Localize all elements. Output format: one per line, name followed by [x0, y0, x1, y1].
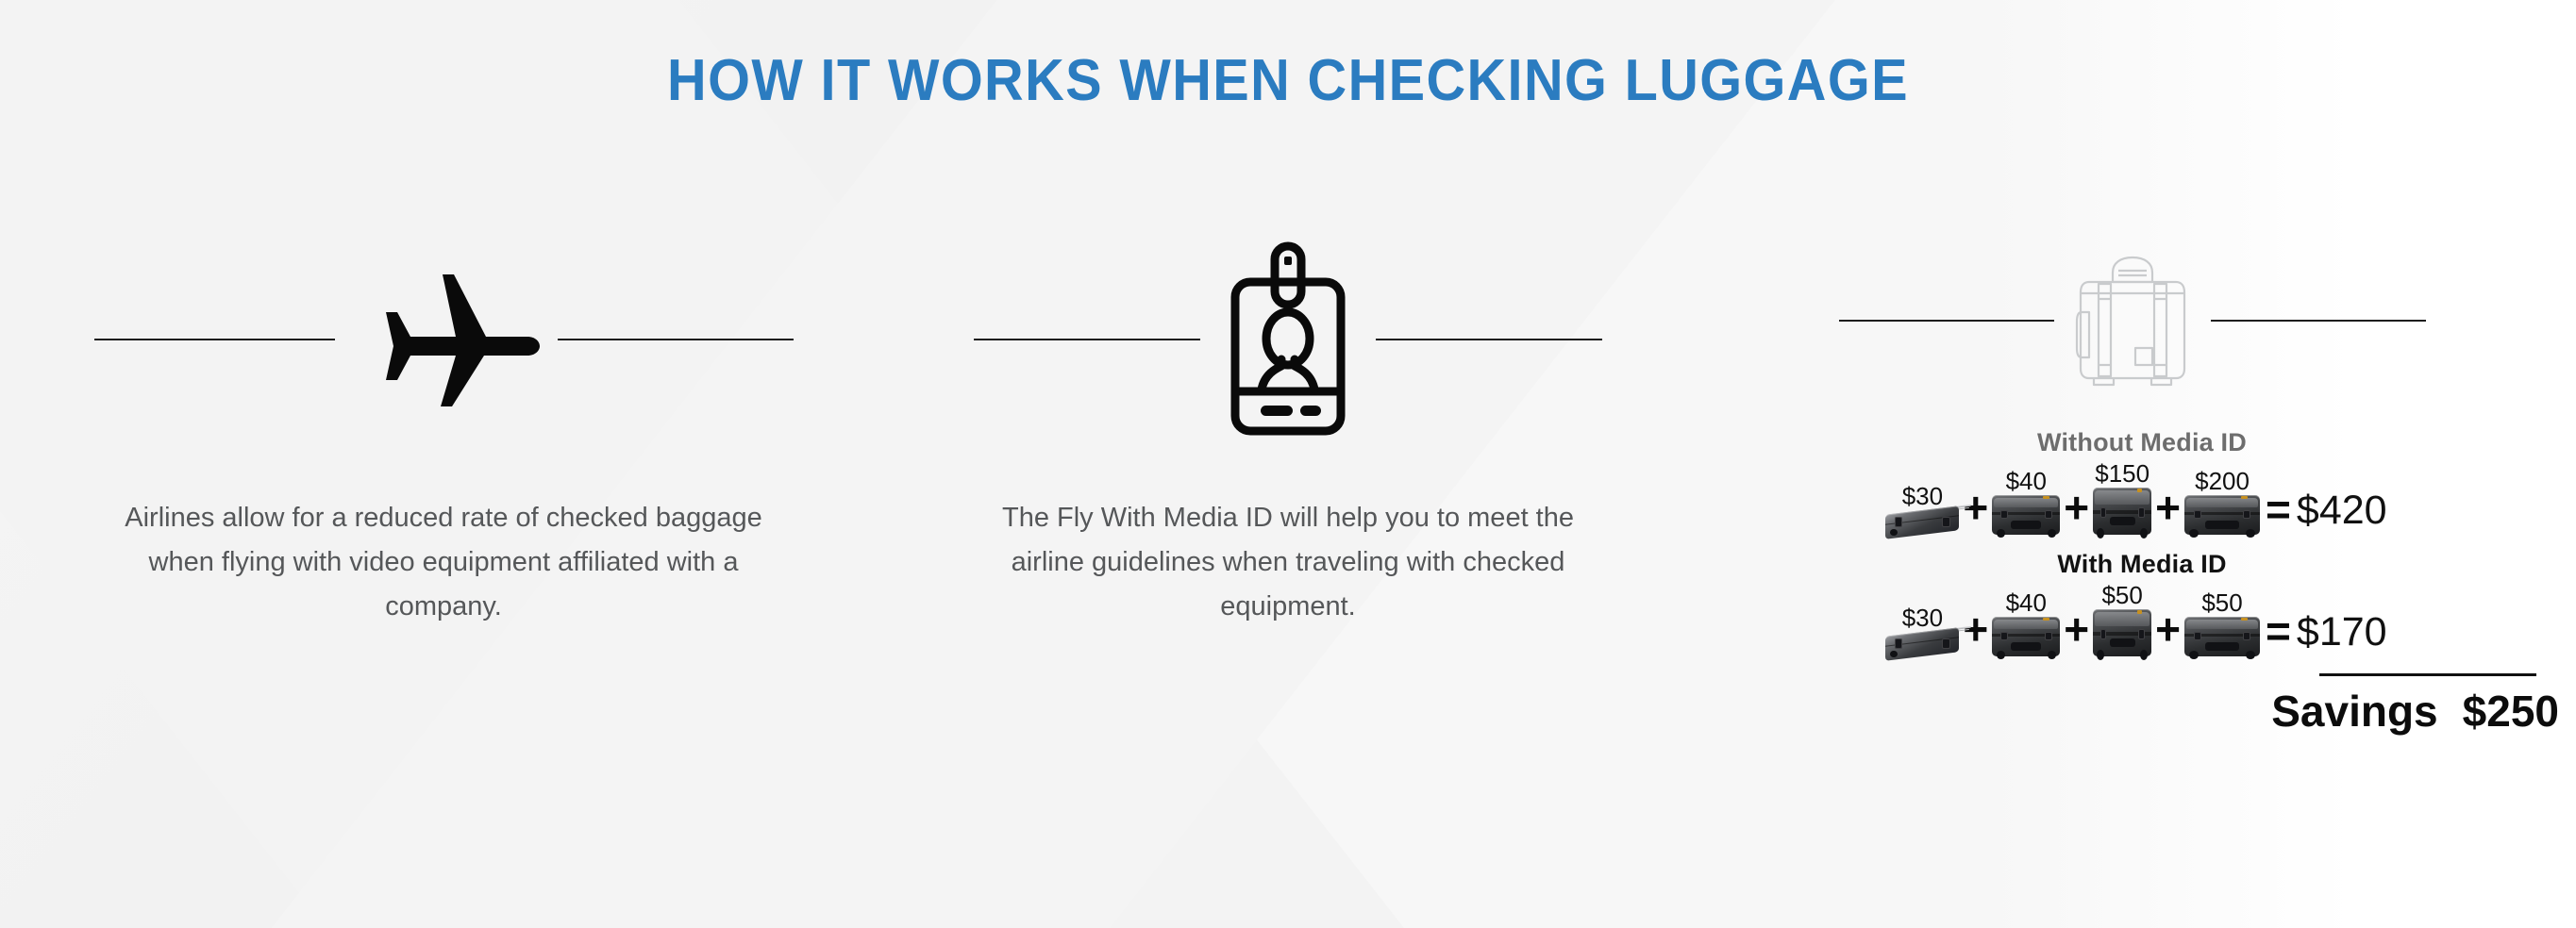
large-wheeled-case-icon	[2184, 495, 2260, 535]
luggage-amount: $200	[2195, 469, 2250, 493]
price-comparison: Without Media ID $30 +	[1689, 428, 2576, 737]
divider-line-right	[1376, 339, 1602, 340]
plus-symbol: +	[2064, 486, 2089, 529]
hard-case-icon	[2071, 250, 2194, 391]
luggage-item: $40	[1992, 590, 2060, 656]
column-airlines: Airlines allow for a reduced rate of che…	[0, 226, 887, 629]
total-amount: $420	[2297, 490, 2387, 531]
luggage-item: $150	[2093, 461, 2151, 535]
tall-wheeled-case-icon	[2093, 609, 2151, 656]
plus-symbol: +	[2155, 607, 2181, 651]
savings-row: Savings $250	[1689, 686, 2576, 737]
tall-wheeled-case-icon	[2093, 488, 2151, 535]
savings-label: Savings	[2271, 686, 2437, 737]
savings-divider-line	[2319, 673, 2536, 676]
savings-value: $250	[2463, 686, 2559, 737]
price-row-with-media-id: $30 + $40	[1689, 583, 2576, 656]
medium-wheeled-case-icon	[1992, 495, 2060, 535]
column-media-id: The Fly With Media ID will help you to m…	[887, 226, 1689, 629]
group-label-without-media-id: Without Media ID	[1689, 428, 2576, 457]
divider-line-right	[2211, 320, 2426, 322]
hard-case-icon-row	[1689, 226, 2576, 415]
total-amount: $170	[2297, 612, 2387, 653]
id-badge-icon	[1217, 240, 1359, 439]
infographic-panel: HOW IT WORKS WHEN CHECKING LUGGAGE Airli…	[0, 0, 2576, 928]
column-airlines-body: Airlines allow for a reduced rate of che…	[0, 496, 887, 629]
luggage-item: $200	[2184, 469, 2260, 535]
luggage-amount: $40	[2006, 590, 2047, 615]
luggage-amount: $50	[2101, 583, 2142, 607]
airplane-icon	[352, 269, 541, 410]
divider-line-left	[94, 339, 335, 340]
luggage-amount: $150	[2095, 461, 2149, 486]
luggage-item: $40	[1992, 469, 2060, 535]
columns-container: Airlines allow for a reduced rate of che…	[0, 226, 2576, 737]
flat-rolling-case-icon	[1885, 632, 1959, 656]
plus-symbol: +	[2155, 486, 2181, 529]
medium-wheeled-case-icon	[1992, 617, 2060, 656]
luggage-amount: $50	[2201, 590, 2242, 615]
luggage-amount: $30	[1902, 484, 1943, 508]
luggage-item: $50	[2184, 590, 2260, 656]
total-without-media-id: = $420	[2266, 488, 2387, 535]
divider-line-left	[1839, 320, 2054, 322]
luggage-item: $30	[1885, 484, 1959, 535]
group-label-with-media-id: With Media ID	[1689, 550, 2576, 579]
equals-symbol: =	[2266, 609, 2291, 653]
large-wheeled-case-icon	[2184, 617, 2260, 656]
price-row-without-media-id: $30 + $40	[1689, 461, 2576, 535]
luggage-item: $30	[1885, 605, 1959, 656]
plus-symbol: +	[2064, 607, 2089, 651]
equals-symbol: =	[2266, 488, 2291, 531]
luggage-amount: $30	[1902, 605, 1943, 630]
id-badge-icon-row	[887, 226, 1689, 453]
luggage-item: $50	[2093, 583, 2151, 656]
page-title: HOW IT WORKS WHEN CHECKING LUGGAGE	[91, 47, 2486, 114]
column-savings: Without Media ID $30 +	[1689, 226, 2576, 737]
total-with-media-id: = $170	[2266, 609, 2387, 656]
airplane-icon-row	[0, 226, 887, 453]
luggage-amount: $40	[2006, 469, 2047, 493]
column-media-id-body: The Fly With Media ID will help you to m…	[887, 496, 1689, 629]
flat-rolling-case-icon	[1885, 510, 1959, 535]
divider-line-right	[558, 339, 794, 340]
divider-line-left	[974, 339, 1200, 340]
